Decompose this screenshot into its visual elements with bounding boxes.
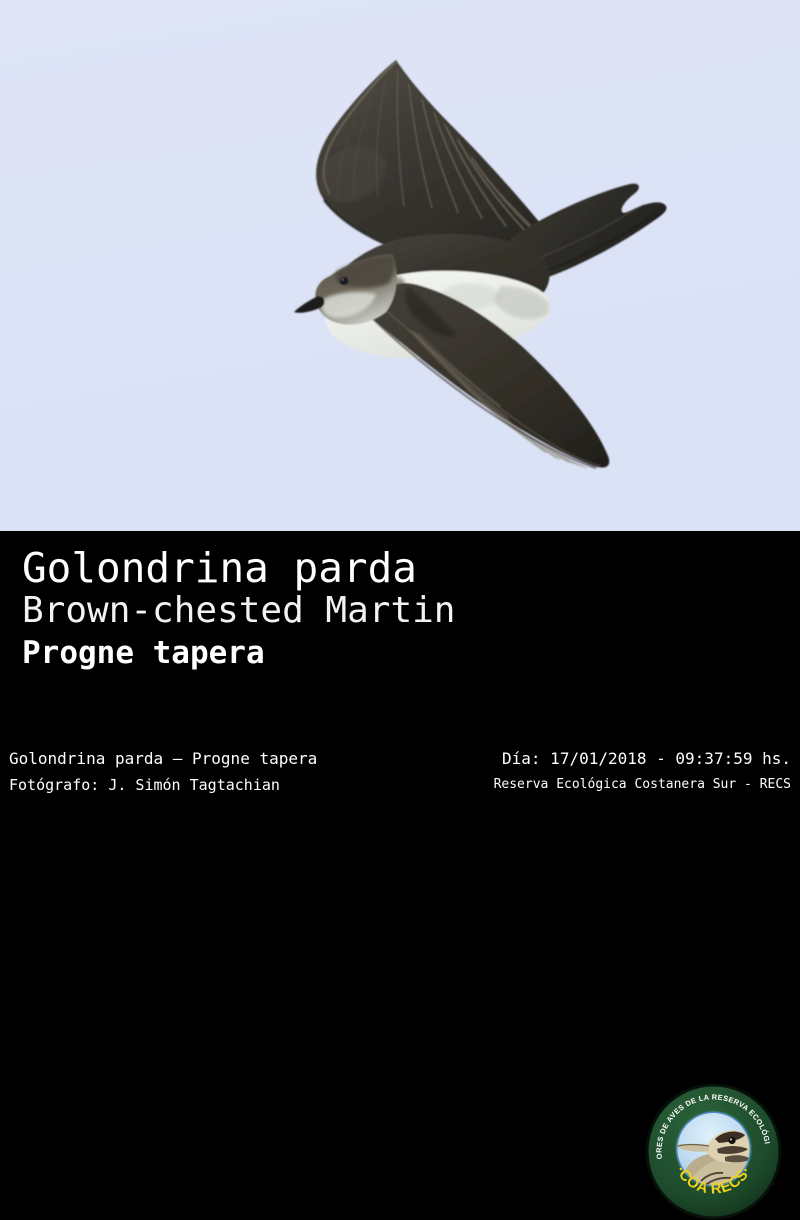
footer-location-line: Reserva Ecológica Costanera Sur - RECS <box>494 772 791 798</box>
footer-photographer-line: Fotógrafo: J. Simón Tagtachian <box>9 772 317 798</box>
eye <box>340 277 349 285</box>
footer-datetime-line: Día: 17/01/2018 - 09:37:59 hs. <box>494 745 791 772</box>
bird-photograph <box>0 0 800 531</box>
footer-bar: Golondrina parda — Progne tapera Fotógra… <box>0 731 800 800</box>
common-name-title: Golondrina parda <box>22 545 622 591</box>
footer-left: Golondrina parda — Progne tapera Fotógra… <box>9 745 317 798</box>
scientific-name-title: Progne tapera <box>22 634 622 672</box>
footer-right: Día: 17/01/2018 - 09:37:59 hs. Reserva E… <box>494 745 791 798</box>
species-titles: Golondrina parda Brown-chested Martin Pr… <box>22 545 622 672</box>
caption-band: Golondrina parda Brown-chested Martin Pr… <box>0 531 800 731</box>
footer-species-line: Golondrina parda — Progne tapera <box>9 745 317 772</box>
english-name-title: Brown-chested Martin <box>22 590 622 632</box>
bird-photo-card: Golondrina parda Brown-chested Martin Pr… <box>0 0 800 800</box>
coa-recs-logo: CLUB DE OBSERVADORES DE AVES DE LA RESER… <box>645 1083 782 1220</box>
